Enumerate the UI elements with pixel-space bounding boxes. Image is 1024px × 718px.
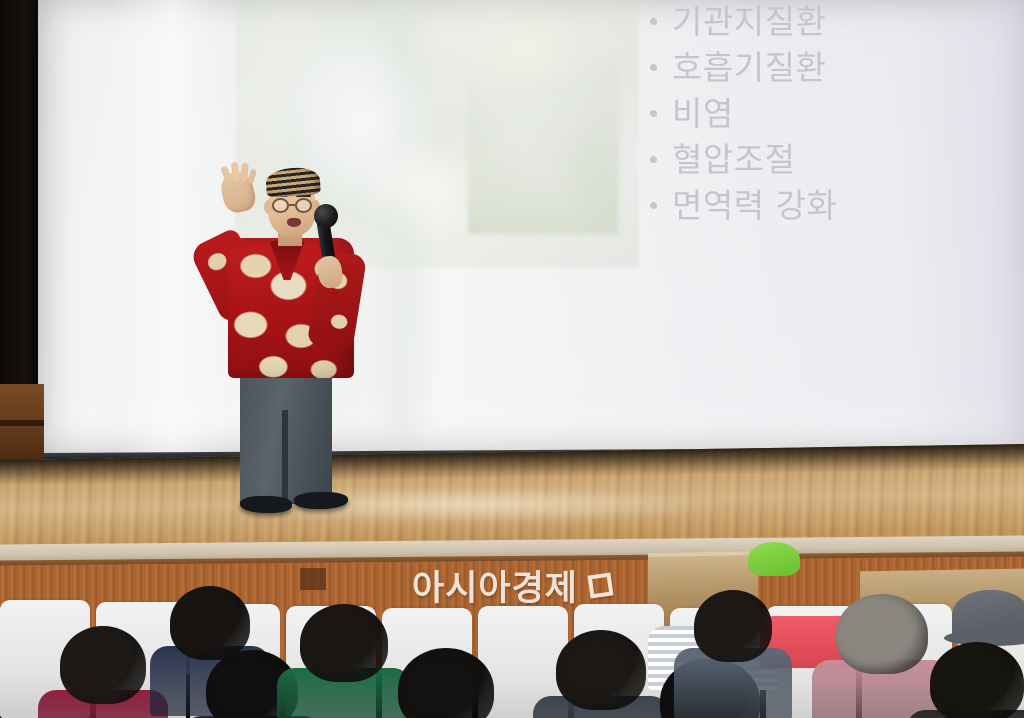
list-item: 혈압조절 [650, 140, 1010, 180]
slide-bullet-label: 면역력 강화 [672, 186, 837, 226]
audience-area [0, 530, 1024, 718]
bullet-dot-icon [650, 202, 657, 209]
glasses-icon [272, 198, 289, 213]
glasses-bridge [289, 204, 296, 206]
slide-bullet-list: 기관지질환 호흡기질환 비염 혈압조절 면역력 강화 [650, 2, 1010, 232]
lecture-photo-scene: 기관지질환 호흡기질환 비염 혈압조절 면역력 강화 [0, 0, 1024, 718]
slide-bullet-label: 혈압조절 [672, 140, 795, 180]
speaker-mouth [287, 218, 301, 227]
speaker-striped-cap [265, 166, 321, 198]
audience-member-6-head [556, 630, 646, 710]
speaker-person [196, 160, 396, 540]
slide-bullet-label: 호흡기질환 [672, 48, 826, 88]
audience-member-8-head [694, 590, 772, 662]
speaker-shoe-right [294, 492, 348, 509]
audience-member-1-head [60, 626, 146, 704]
foliage-hint [468, 24, 618, 234]
bullet-dot-icon [650, 156, 657, 163]
list-item: 호흡기질환 [650, 48, 1010, 88]
list-item: 비염 [650, 94, 1010, 134]
stage-step-edge [0, 420, 44, 426]
stage-curtain-left [0, 0, 40, 390]
speaker-shoe-left [240, 496, 292, 513]
list-item: 기관지질환 [650, 2, 1010, 42]
audience-member-2-head [170, 586, 250, 660]
green-cap-icon [748, 542, 800, 576]
speaker-finger [247, 168, 257, 184]
audience-member-9-head [836, 594, 928, 674]
glasses-icon [295, 198, 312, 213]
bullet-dot-icon [650, 64, 657, 71]
slide-bullet-label: 기관지질환 [672, 2, 826, 42]
audience-member-4-head [300, 604, 388, 682]
bullet-dot-icon [650, 110, 657, 117]
slide-bullet-label: 비염 [672, 94, 734, 134]
projection-screen: 기관지질환 호흡기질환 비염 혈압조절 면역력 강화 [38, 0, 1024, 456]
speaker-leg-split [282, 410, 288, 506]
bullet-dot-icon [650, 18, 657, 25]
list-item: 면역력 강화 [650, 186, 1010, 226]
speaker-finger [231, 162, 241, 183]
audience-member-10-head [930, 642, 1024, 718]
